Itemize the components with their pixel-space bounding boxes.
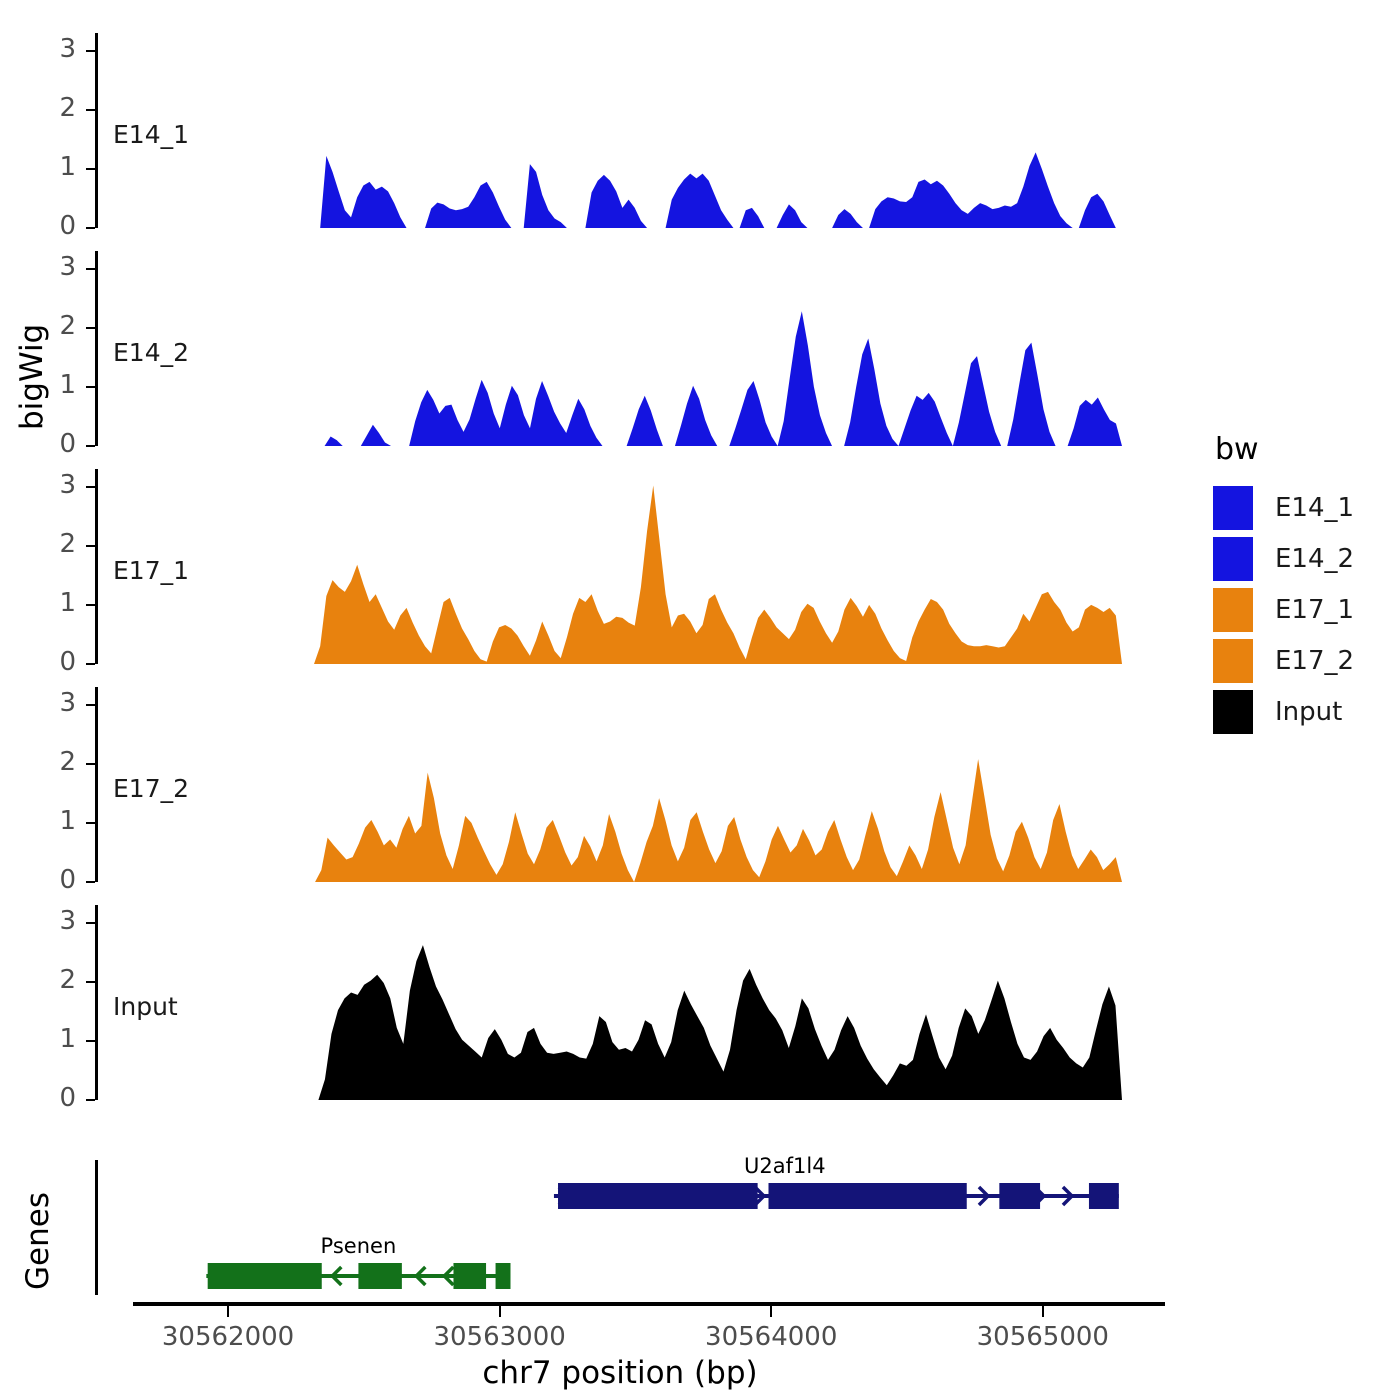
signal-segment: [409, 380, 602, 446]
strand-arrow: [416, 1267, 425, 1285]
signal-panel-Input: 0123Input: [0, 905, 1400, 1100]
legend-swatch-E17_2: [1213, 639, 1253, 683]
legend-items: E14_1E14_2E17_1E17_2Input: [1213, 485, 1393, 735]
strand-arrow: [276, 1267, 285, 1285]
legend-label-E14_2: E14_2: [1275, 544, 1354, 574]
strand-arrow: [811, 1187, 820, 1205]
signal-panel-E14_2: 0123E14_2: [0, 251, 1400, 446]
genome-browser-figure: bigWig Genes 0123E14_10123E14_20123E17_1…: [0, 0, 1400, 1400]
legend-title: bw: [1215, 432, 1393, 467]
signal-segment: [953, 356, 1001, 446]
gene-exon: [453, 1263, 486, 1289]
legend-label-Input: Input: [1275, 697, 1342, 727]
signal-panel-E17_2: 0123E17_2: [0, 687, 1400, 882]
legend-item-E17_2[interactable]: E17_2: [1213, 638, 1393, 684]
signal-segment: [1079, 194, 1116, 228]
gene-exon: [999, 1183, 1040, 1209]
signal-segment: [315, 773, 634, 882]
x-tick: [227, 1306, 229, 1317]
x-tick-label: 30562000: [118, 1322, 338, 1352]
strand-arrow: [332, 1267, 341, 1285]
gene-exon: [496, 1263, 511, 1289]
signal-area-Input: [0, 905, 1400, 1100]
strand-arrow: [1063, 1187, 1072, 1205]
legend-label-E17_2: E17_2: [1275, 646, 1354, 676]
strand-arrow: [699, 1187, 708, 1205]
strand-arrow: [360, 1267, 369, 1285]
gene-exon: [768, 1183, 966, 1209]
legend-label-E17_1: E17_1: [1275, 595, 1354, 625]
signal-segment: [585, 175, 647, 228]
legend-item-E14_2[interactable]: E14_2: [1213, 536, 1393, 582]
legend-item-E14_1[interactable]: E14_1: [1213, 485, 1393, 531]
strand-arrow: [220, 1267, 229, 1285]
signal-segment: [627, 396, 663, 446]
strand-arrow: [783, 1187, 792, 1205]
x-tick: [1042, 1306, 1044, 1317]
strand-arrow: [895, 1187, 904, 1205]
y-axis-title-genes: Genes: [20, 1192, 56, 1290]
legend-swatch-Input: [1213, 690, 1253, 734]
legend-item-Input[interactable]: Input: [1213, 689, 1393, 735]
signal-segment: [898, 393, 952, 446]
x-axis-title: chr7 position (bp): [0, 1355, 1240, 1391]
strand-arrow: [1007, 1187, 1016, 1205]
gene-label-U2af1l4: U2af1l4: [744, 1154, 826, 1178]
gene-exon: [358, 1263, 401, 1289]
signal-segment: [740, 208, 765, 228]
signal-segment: [675, 386, 717, 446]
signal-panel-E17_1: 0123E17_1: [0, 469, 1400, 664]
strand-arrow: [1035, 1187, 1044, 1205]
signal-segment: [425, 182, 511, 228]
genes-panel-axis-line: [95, 1160, 98, 1295]
strand-arrow: [923, 1187, 932, 1205]
x-tick: [499, 1306, 501, 1317]
strand-arrow: [500, 1267, 509, 1285]
strand-arrow: [839, 1187, 848, 1205]
signal-segment: [320, 156, 406, 228]
strand-arrow: [304, 1267, 313, 1285]
signal-segment: [1007, 343, 1055, 446]
signal-segment: [844, 338, 898, 446]
x-axis-line: [133, 1302, 1165, 1306]
signal-segment: [666, 174, 734, 228]
strand-arrow: [671, 1187, 680, 1205]
signal-area-E17_1: [0, 469, 1400, 664]
legend: bw E14_1E14_2E17_1E17_2Input: [1213, 432, 1393, 740]
gene-exon: [208, 1263, 322, 1289]
signal-segment: [318, 945, 1122, 1100]
signal-segment: [778, 311, 832, 446]
signal-segment: [1068, 398, 1122, 446]
gene-backbone: [554, 1194, 1119, 1198]
signal-panel-E14_1: 0123E14_1: [0, 33, 1400, 228]
strand-arrow: [1091, 1187, 1100, 1205]
strand-arrow: [755, 1187, 764, 1205]
signal-area-E14_1: [0, 33, 1400, 228]
gene-backbone: [206, 1274, 510, 1278]
signal-area-E17_2: [0, 687, 1400, 882]
signal-segment: [729, 381, 777, 446]
strand-arrow: [444, 1267, 453, 1285]
strand-arrow: [979, 1187, 988, 1205]
gene-exon: [1089, 1183, 1119, 1209]
signal-segment: [777, 204, 808, 228]
x-tick-label: 30565000: [933, 1322, 1153, 1352]
strand-arrow: [615, 1187, 624, 1205]
gene-label-Psenen: Psenen: [321, 1234, 397, 1258]
strand-arrow: [472, 1267, 481, 1285]
signal-area-E14_2: [0, 251, 1400, 446]
legend-swatch-E17_1: [1213, 588, 1253, 632]
signal-segment: [524, 164, 567, 228]
legend-swatch-E14_2: [1213, 537, 1253, 581]
signal-segment: [869, 152, 1073, 228]
strand-arrow: [643, 1187, 652, 1205]
gene-exon: [558, 1183, 758, 1209]
x-tick-label: 30563000: [390, 1322, 610, 1352]
x-tick: [770, 1306, 772, 1317]
strand-arrow: [867, 1187, 876, 1205]
legend-swatch-E14_1: [1213, 486, 1253, 530]
signal-segment: [634, 759, 1122, 882]
strand-arrow: [727, 1187, 736, 1205]
strand-arrow: [388, 1267, 397, 1285]
x-tick-label: 30564000: [661, 1322, 881, 1352]
signal-segment: [361, 425, 391, 446]
signal-segment: [314, 486, 1122, 664]
strand-arrow: [951, 1187, 960, 1205]
strand-arrow: [559, 1187, 568, 1205]
signal-segment: [832, 209, 863, 228]
strand-arrow: [248, 1267, 257, 1285]
strand-arrow: [587, 1187, 596, 1205]
legend-item-E17_1[interactable]: E17_1: [1213, 587, 1393, 633]
legend-label-E14_1: E14_1: [1275, 493, 1354, 523]
signal-segment: [325, 437, 343, 446]
